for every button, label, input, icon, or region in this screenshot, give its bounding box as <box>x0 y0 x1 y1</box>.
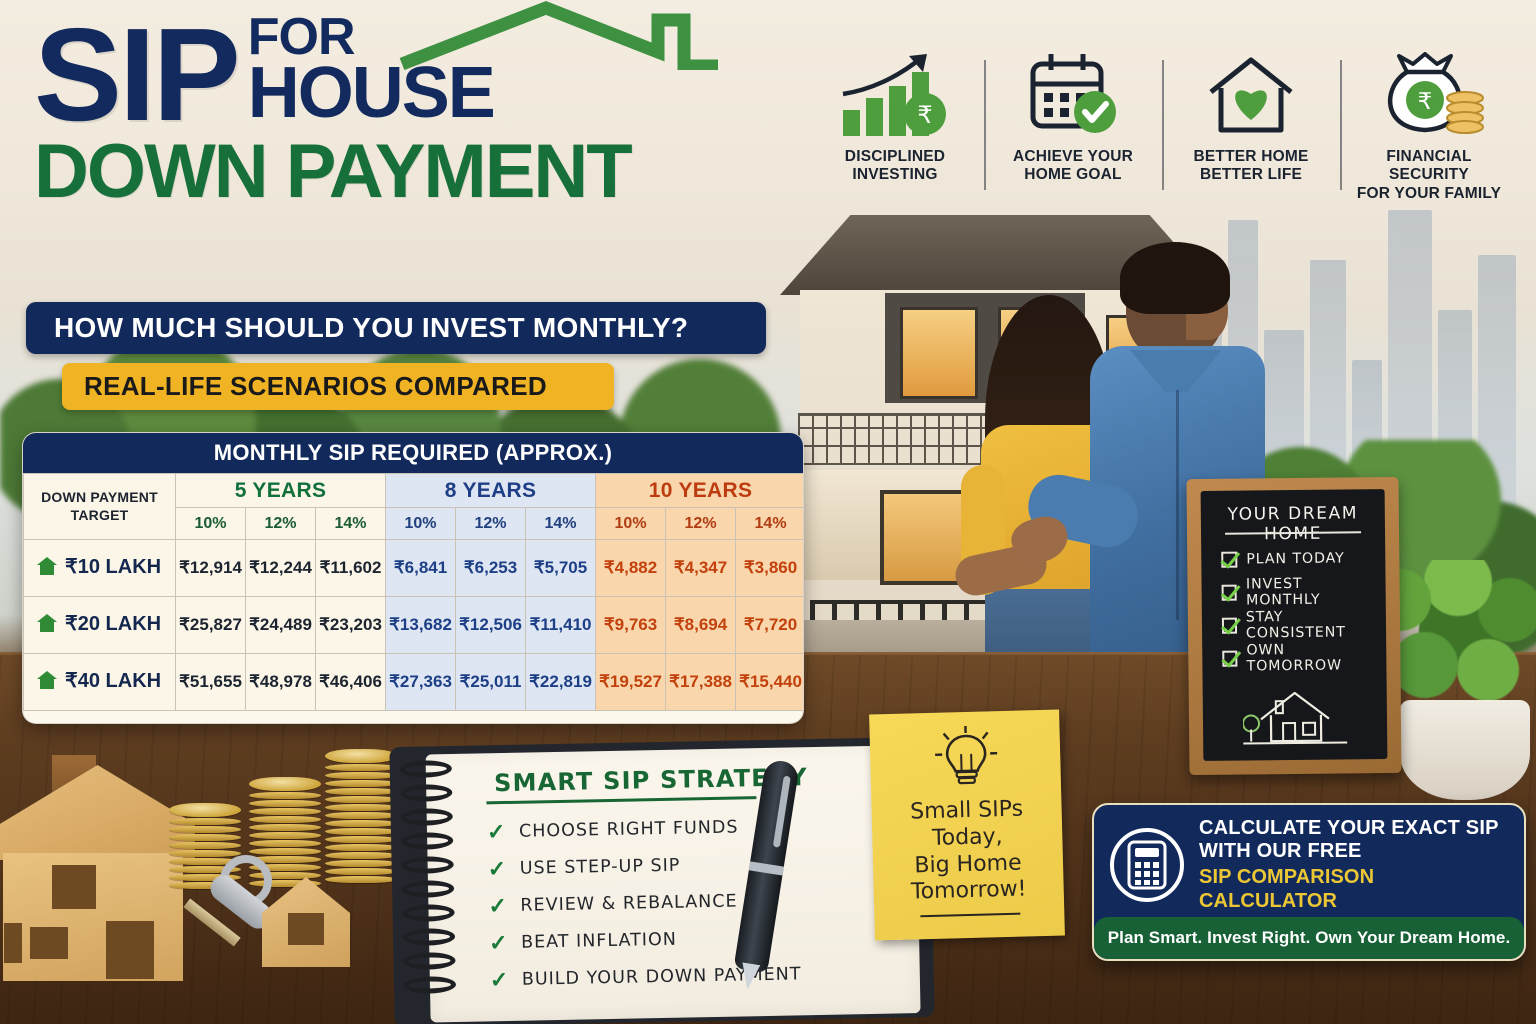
notebook-list: ✓ CHOOSE RIGHT FUNDS ✓ USE STEP-UP SIP ✓… <box>487 805 914 998</box>
cell: ₹4,347 <box>666 540 736 597</box>
cell: ₹9,763 <box>596 597 666 654</box>
rate-header-8y-10: 10% <box>386 508 456 540</box>
checkbox-checked-icon <box>1222 617 1237 633</box>
row-label-10-lakh: ₹10 LAKH <box>24 540 176 597</box>
money-bag-coins-icon: ₹ <box>1373 48 1485 140</box>
cta-calculator-card[interactable]: CALCULATE YOUR EXACT SIP WITH OUR FREE S… <box>1092 803 1526 961</box>
subtitle-question-banner: HOW MUCH SHOULD YOU INVEST MONTHLY? <box>26 302 766 354</box>
list-item: INVEST MONTHLY <box>1221 574 1375 609</box>
list-item: PLAN TODAY <box>1221 541 1375 576</box>
rate-header-10y-10: 10% <box>596 508 666 540</box>
cell: ₹15,440 <box>736 654 804 711</box>
cell: ₹46,406 <box>316 654 386 711</box>
group-header-5-years: 5 YEARS <box>176 474 386 508</box>
subtitle-scenarios-banner: REAL-LIFE SCENARIOS COMPARED <box>62 363 614 410</box>
cta-calculator-name[interactable]: SIP COMPARISON CALCULATOR <box>1199 865 1508 913</box>
cta-footer-text: Plan Smart. Invest Right. Own Your Dream… <box>1108 928 1511 948</box>
table-title: MONTHLY SIP REQUIRED (APPROX.) <box>23 433 803 473</box>
rate-header-10y-12: 12% <box>666 508 736 540</box>
check-icon: ✓ <box>487 855 507 881</box>
badge-label: FINANCIAL SECURITYFOR YOUR FAMILY <box>1346 148 1512 203</box>
list-item-label: BEAT INFLATION <box>521 929 677 952</box>
list-item-label: CHOOSE RIGHT FUNDS <box>519 817 739 841</box>
rate-header-5y-10: 10% <box>176 508 246 540</box>
list-item-label: PLAN TODAY <box>1246 550 1345 567</box>
cell: ₹27,363 <box>386 654 456 711</box>
cell: ₹6,841 <box>386 540 456 597</box>
cell: ₹4,882 <box>596 540 666 597</box>
check-icon: ✓ <box>490 966 510 992</box>
cell: ₹3,860 <box>736 540 804 597</box>
cell: ₹11,410 <box>526 597 596 654</box>
list-item: OWN TOMORROW <box>1222 640 1376 675</box>
cell: ₹11,602 <box>316 540 386 597</box>
notebook: SMART SIP STRATEGY ✓ CHOOSE RIGHT FUNDS … <box>389 737 934 1024</box>
cell: ₹12,506 <box>456 597 526 654</box>
group-header-8-years: 8 YEARS <box>386 474 596 508</box>
cell: ₹12,914 <box>176 540 246 597</box>
chalkboard-title: YOUR DREAM HOME <box>1201 503 1385 545</box>
cell: ₹25,011 <box>456 654 526 711</box>
chalk-house-drawing-icon <box>1243 678 1354 754</box>
row-label-40-lakh: ₹40 LAKH <box>24 654 176 711</box>
home-icon <box>36 556 58 582</box>
badge-achieve-home-goal: ACHIEVE YOURHOME GOAL <box>984 48 1162 216</box>
cell: ₹8,694 <box>666 597 736 654</box>
badge-better-home-better-life: BETTER HOMEBETTER LIFE <box>1162 48 1340 216</box>
rate-header-8y-14: 14% <box>526 508 596 540</box>
table-body: ₹10 LAKH ₹12,914 ₹12,244 ₹11,602 ₹6,841 … <box>24 540 805 711</box>
svg-text:₹: ₹ <box>917 101 932 129</box>
roof-outline-icon <box>396 0 726 70</box>
lightbulb-icon <box>933 725 999 798</box>
cell: ₹23,203 <box>316 597 386 654</box>
checkbox-checked-icon <box>1221 551 1237 567</box>
check-icon: ✓ <box>489 929 509 955</box>
calculator-icon <box>1110 828 1184 902</box>
headline-house: HOUSE <box>248 61 494 126</box>
growth-chart-rupee-icon: ₹ <box>839 48 951 140</box>
table-row: ₹20 LAKH ₹25,827 ₹24,489 ₹23,203 ₹13,682… <box>24 597 805 654</box>
cell: ₹17,388 <box>666 654 736 711</box>
sticky-note: Small SIPs Today, Big Home Tomorrow! <box>869 710 1065 941</box>
check-icon: ✓ <box>487 818 507 844</box>
group-header-10-years: 10 YEARS <box>596 474 804 508</box>
checkbox-checked-icon <box>1222 650 1237 666</box>
cta-footer-bar: Plan Smart. Invest Right. Own Your Dream… <box>1094 917 1524 959</box>
table-row: ₹40 LAKH ₹51,655 ₹48,978 ₹46,406 ₹27,363… <box>24 654 805 711</box>
sip-table: DOWN PAYMENT TARGET 5 YEARS 8 YEARS 10 Y… <box>23 473 804 711</box>
potted-plant-pot <box>1400 700 1530 800</box>
svg-text:₹: ₹ <box>1418 89 1433 115</box>
headline-block: SIP FOR HOUSE DOWN PAYMENT <box>34 14 794 208</box>
cell: ₹19,527 <box>596 654 666 711</box>
list-item-label: OWN TOMORROW <box>1246 641 1376 674</box>
list-item-label: INVEST MONTHLY <box>1246 575 1376 608</box>
feature-badges: ₹ DISCIPLINEDINVESTING <box>806 48 1518 216</box>
cell: ₹22,819 <box>526 654 596 711</box>
chalkboard-sign: YOUR DREAM HOME PLAN TODAY INVEST MONTHL… <box>1186 477 1401 775</box>
row-label-20-lakh: ₹20 LAKH <box>24 597 176 654</box>
cell: ₹25,827 <box>176 597 246 654</box>
headline-sip: SIP <box>34 21 238 129</box>
subtitle-scenarios-text: REAL-LIFE SCENARIOS COMPARED <box>62 371 547 402</box>
badge-label: ACHIEVE YOURHOME GOAL <box>1013 148 1133 185</box>
list-item: STAY CONSISTENT <box>1222 607 1376 642</box>
calendar-check-icon <box>1025 48 1121 140</box>
table-row: ₹10 LAKH ₹12,914 ₹12,244 ₹11,602 ₹6,841 … <box>24 540 805 597</box>
table-group-header-row: DOWN PAYMENT TARGET 5 YEARS 8 YEARS 10 Y… <box>24 474 805 508</box>
badge-disciplined-investing: ₹ DISCIPLINEDINVESTING <box>806 48 984 216</box>
cell: ₹13,682 <box>386 597 456 654</box>
cell: ₹24,489 <box>246 597 316 654</box>
subtitle-question-text: HOW MUCH SHOULD YOU INVEST MONTHLY? <box>26 312 688 344</box>
sip-comparison-table-card: MONTHLY SIP REQUIRED (APPROX.) DOWN PAYM… <box>22 432 804 724</box>
cell: ₹5,705 <box>526 540 596 597</box>
home-icon <box>36 670 58 696</box>
cell: ₹6,253 <box>456 540 526 597</box>
house-heart-icon <box>1203 48 1299 140</box>
badge-label: BETTER HOMEBETTER LIFE <box>1193 148 1308 185</box>
list-item-label: USE STEP-UP SIP <box>520 855 681 878</box>
list-item-label: STAY CONSISTENT <box>1246 608 1376 641</box>
infographic-canvas: SIP FOR HOUSE DOWN PAYMENT HOW MUCH SHOU… <box>0 0 1536 1024</box>
rate-header-5y-12: 12% <box>246 508 316 540</box>
cell: ₹48,978 <box>246 654 316 711</box>
cell: ₹12,244 <box>246 540 316 597</box>
sticky-note-text: Small SIPs Today, Big Home Tomorrow! <box>871 796 1064 908</box>
house-keys <box>200 855 350 975</box>
rate-header-10y-14: 14% <box>736 508 804 540</box>
cta-line-1: CALCULATE YOUR EXACT SIP <box>1199 817 1508 840</box>
chalkboard-list: PLAN TODAY INVEST MONTHLY STAY CONSISTEN… <box>1221 541 1376 675</box>
list-item-label: REVIEW & REBALANCE <box>520 891 738 915</box>
cell: ₹51,655 <box>176 654 246 711</box>
sticky-note-underline <box>920 913 1020 918</box>
home-icon <box>36 613 58 639</box>
rate-header-8y-12: 12% <box>456 508 526 540</box>
badge-financial-security: ₹ FINANCIAL SECURITYFOR YOUR FAMILY <box>1340 48 1518 216</box>
notebook-spiral <box>400 760 461 1017</box>
badge-label: DISCIPLINEDINVESTING <box>845 148 945 185</box>
table-corner-label: DOWN PAYMENT TARGET <box>24 474 176 540</box>
cell: ₹7,720 <box>736 597 804 654</box>
checkbox-checked-icon <box>1222 584 1238 600</box>
cta-line-2: WITH OUR FREE <box>1199 840 1508 863</box>
check-icon: ✓ <box>488 892 508 918</box>
rate-header-5y-14: 14% <box>316 508 386 540</box>
